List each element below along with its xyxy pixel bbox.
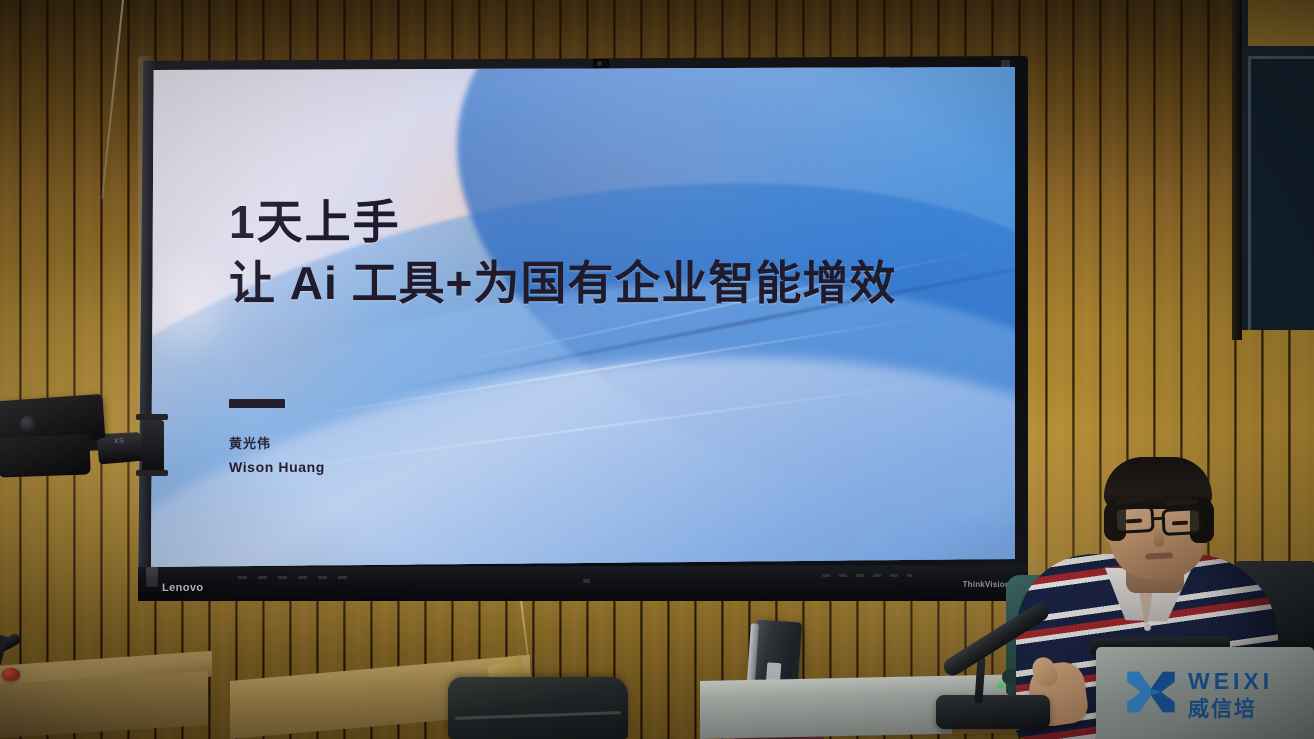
display-power-led-icon <box>583 579 590 583</box>
slide-title-block: 1天上手 让 Ai 工具+为国有企业智能增效 <box>229 199 896 307</box>
laptop-logo-text: WEIXI <box>1188 668 1314 695</box>
door-panel <box>1242 0 1314 330</box>
microphone-base[interactable] <box>936 695 1050 729</box>
display-chin-bezel: Lenovo ThinkVision <box>138 565 1028 601</box>
weixin-w-logo-icon <box>1124 665 1178 719</box>
slide-author-english: Wison Huang <box>229 459 325 475</box>
slide-title-line-1: 1天上手 <box>229 199 896 246</box>
door-transom <box>1248 0 1314 46</box>
display-model-label: ThinkVision <box>963 580 1010 589</box>
presenter-eye-right <box>1172 521 1188 526</box>
presenter-laptop[interactable]: WEIXI 威信培 <box>1096 635 1314 739</box>
display-screen[interactable]: 1天上手 让 Ai 工具+为国有企业智能增效 黄光伟 Wison Huang <box>151 67 1015 567</box>
door-jamb <box>1232 0 1242 340</box>
gooseneck-microphone <box>928 629 1108 739</box>
rig-wall-mount <box>142 420 164 472</box>
slide-accent-bar <box>229 399 285 408</box>
rig-bracket-top <box>136 414 168 420</box>
ceiling-camera-rig: XS <box>0 392 170 497</box>
podium-mic-head-icon <box>2 668 20 681</box>
webcam-lens-icon <box>597 61 602 66</box>
rig-body-lower <box>0 434 91 477</box>
door-glass <box>1248 56 1314 330</box>
display-control-buttons-right[interactable] <box>822 574 912 577</box>
display-port-icon <box>146 567 158 587</box>
presenter-nose <box>1154 527 1164 547</box>
slide-author-chinese: 黄光伟 <box>229 433 271 452</box>
display-control-buttons[interactable] <box>238 576 348 579</box>
display-indicator-icon <box>1001 60 1010 68</box>
power-led-indicator-icon <box>998 683 1004 689</box>
eyeglasses-bridge-icon <box>1153 517 1165 521</box>
laptop-bag <box>448 677 628 739</box>
laptop-logo-subtext: 威信培 <box>1188 693 1314 723</box>
rig-bracket-bottom <box>136 470 168 476</box>
conference-room-scene: 1天上手 让 Ai 工具+为国有企业智能增效 黄光伟 Wison Huang L… <box>0 0 1314 739</box>
screen-glare-blob <box>151 237 237 367</box>
polo-button-icon <box>1144 624 1151 631</box>
podium-front-face <box>0 671 208 739</box>
rig-adjustment-knob[interactable] <box>20 416 36 432</box>
slide-title-line-2: 让 Ai 工具+为国有企业智能增效 <box>229 260 896 307</box>
presentation-display[interactable]: 1天上手 让 Ai 工具+为国有企业智能增效 黄光伟 Wison Huang L… <box>138 56 1028 601</box>
rig-model-label: XS <box>114 438 125 446</box>
display-brand-label: Lenovo <box>162 582 204 594</box>
